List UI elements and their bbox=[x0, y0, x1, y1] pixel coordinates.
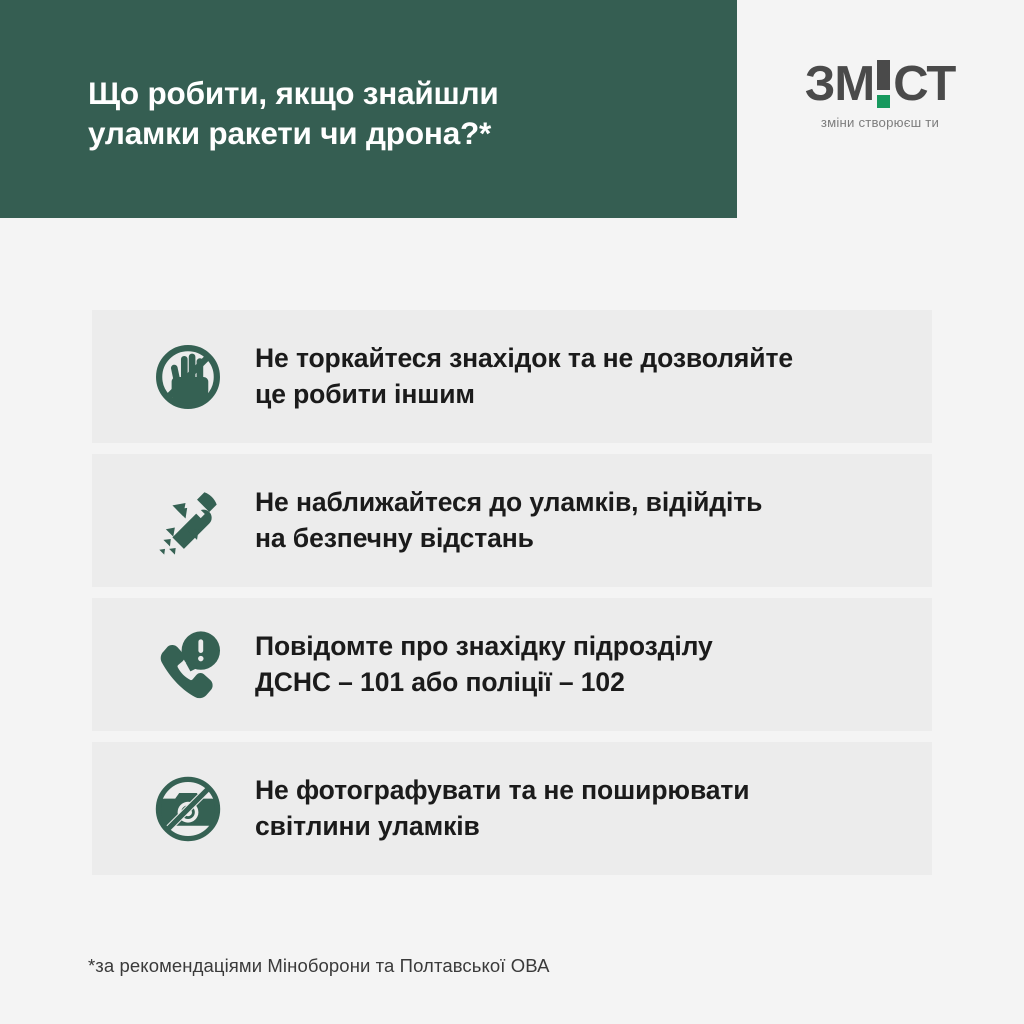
logo-word-part-2: СТ bbox=[893, 60, 955, 109]
brand-logo: ЗМ СТ зміни створюєш ти bbox=[795, 60, 965, 130]
list-item: Не фотографувати та не поширювати світли… bbox=[92, 742, 932, 875]
list-item-text: Повідомте про знахідку підрозділу ДСНС –… bbox=[255, 629, 713, 699]
footnote: *за рекомендаціями Міноборони та Полтавс… bbox=[88, 955, 550, 977]
list-item-text: Не наближайтеся до уламків, відійдіть на… bbox=[255, 485, 762, 555]
logo-word-part-1: ЗМ bbox=[805, 60, 875, 109]
list-item-text: Не торкайтеся знахідок та не дозволяйте … bbox=[255, 341, 793, 411]
list-item: Не наближайтеся до уламків, відійдіть на… bbox=[92, 454, 932, 587]
list-item-text: Не фотографувати та не поширювати світли… bbox=[255, 773, 750, 843]
header-band: Що робити, якщо знайшли уламки ракети чи… bbox=[0, 0, 737, 218]
advice-card-list: Не торкайтеся знахідок та не дозволяйте … bbox=[92, 310, 932, 886]
logo-wordmark: ЗМ СТ bbox=[795, 60, 965, 109]
page-title: Що робити, якщо знайшли уламки ракети чи… bbox=[88, 73, 688, 154]
list-item: Повідомте про знахідку підрозділу ДСНС –… bbox=[92, 598, 932, 731]
emergency-phone-alert-icon bbox=[129, 625, 247, 705]
no-camera-icon bbox=[129, 769, 247, 849]
no-touching-hand-icon bbox=[129, 338, 247, 416]
infographic-page: Що робити, якщо знайшли уламки ракети чи… bbox=[0, 0, 1024, 1024]
logo-mark-dot bbox=[877, 95, 890, 108]
missile-icon bbox=[129, 480, 247, 562]
logo-mark-bar bbox=[877, 60, 890, 90]
list-item: Не торкайтеся знахідок та не дозволяйте … bbox=[92, 310, 932, 443]
exclamation-i-mark-icon bbox=[875, 60, 892, 109]
logo-tagline: зміни створюєш ти bbox=[795, 115, 965, 130]
